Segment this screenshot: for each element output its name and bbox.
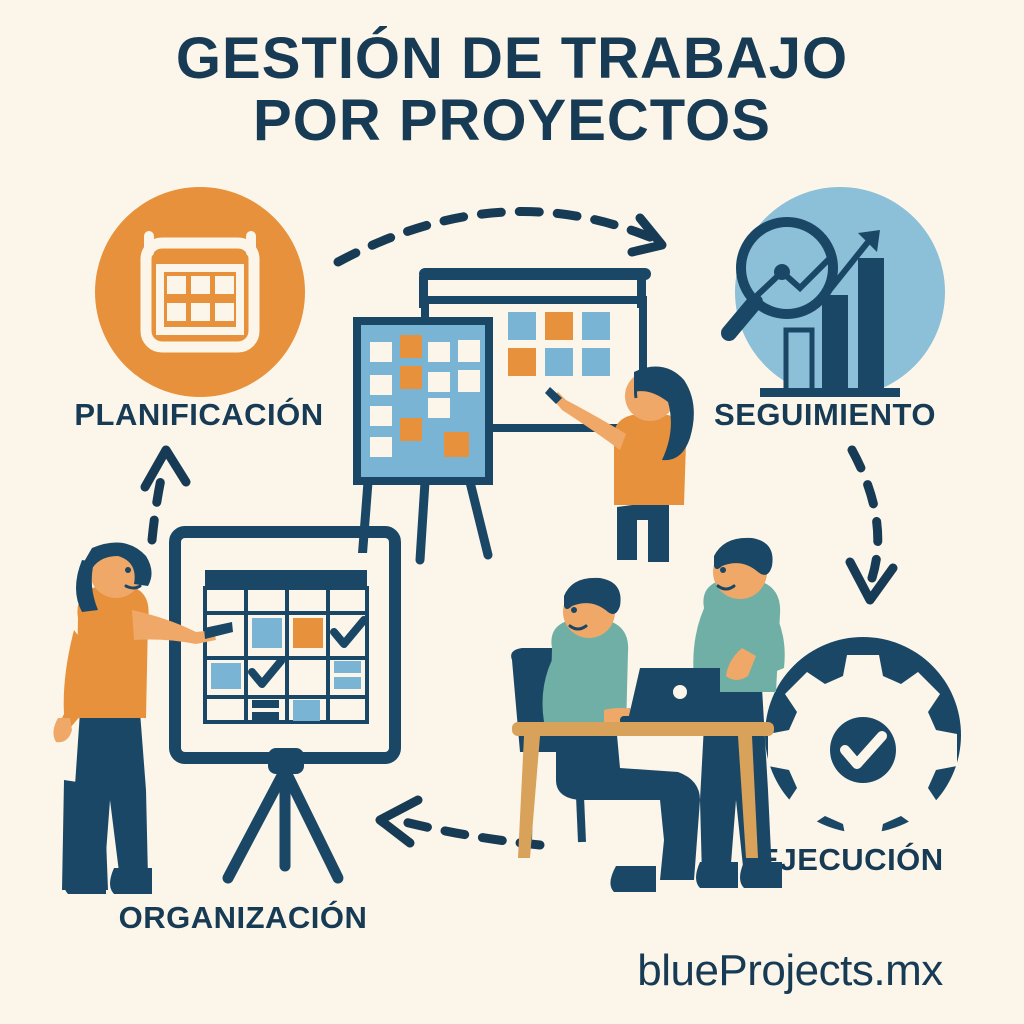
calendar-icon bbox=[144, 231, 256, 347]
title-line-2: POR PROYECTOS bbox=[253, 88, 771, 153]
ejecucion-label: EJECUCIÓN bbox=[758, 841, 943, 877]
brand-wordmark: blueProjects.mx bbox=[637, 946, 943, 995]
gear-check-icon bbox=[768, 655, 957, 845]
woman2-shoe-left bbox=[64, 868, 106, 894]
seguimiento-label: SEGUIMIENTO bbox=[714, 397, 936, 432]
whiteboard-top-rail bbox=[419, 268, 651, 280]
laptop-logo bbox=[673, 685, 687, 699]
organizacion-label: ORGANIZACIÓN bbox=[119, 899, 368, 935]
planificacion-label: PLANIFICACIÓN bbox=[74, 396, 323, 432]
page-title: GESTIÓN DE TRABAJO POR PROYECTOS bbox=[176, 26, 848, 153]
title-line-1: GESTIÓN DE TRABAJO bbox=[176, 26, 848, 91]
woman2-shoe-right bbox=[110, 868, 152, 894]
infographic-canvas: GESTIÓN DE TRABAJO POR PROYECTOS bbox=[0, 0, 1024, 1024]
